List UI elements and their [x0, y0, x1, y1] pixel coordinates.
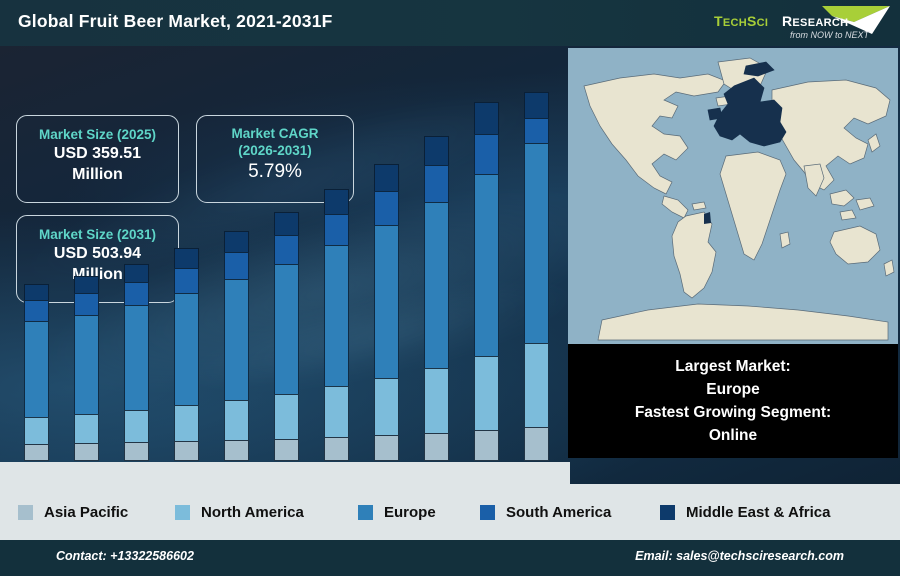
contact-email: Email: sales@techsciresearch.com: [635, 549, 844, 563]
bar-column: [174, 248, 199, 460]
bar-segment: [24, 300, 49, 322]
legend-swatch: [660, 505, 675, 520]
largest-market-value: Europe: [568, 379, 898, 401]
svg-text:TECHSCI: TECHSCI: [714, 13, 768, 29]
bar-column: [374, 164, 399, 460]
bar-segment: [274, 264, 299, 395]
bar-segment: [124, 305, 149, 411]
bar-segment: [324, 245, 349, 387]
fastest-segment-value: Online: [568, 425, 898, 447]
legend-label: Europe: [384, 504, 436, 521]
bar-segment: [474, 102, 499, 135]
legend-swatch: [175, 505, 190, 520]
bar-segment: [274, 394, 299, 440]
bar-segment: [274, 235, 299, 265]
bar-column: [274, 212, 299, 460]
bar-segment: [124, 264, 149, 283]
bar-segment: [324, 386, 349, 438]
bar-segment: [74, 315, 99, 415]
page-title: Global Fruit Beer Market, 2021-2031F: [18, 11, 333, 32]
bar-segment: [424, 136, 449, 166]
legend-swatch: [18, 505, 33, 520]
bar-segment: [474, 174, 499, 357]
bar-segment: [374, 191, 399, 226]
bar-segment: [174, 248, 199, 269]
bar-segment: [174, 441, 199, 461]
bar-column: [424, 136, 449, 460]
chart-legend: Asia PacificNorth AmericaEuropeSouth Ame…: [0, 484, 900, 540]
bar-segment: [124, 410, 149, 443]
bar-column: [124, 264, 149, 460]
bar-segment: [24, 284, 49, 301]
bar-segment: [124, 442, 149, 461]
bar-segment: [524, 343, 549, 428]
bar-segment: [74, 293, 99, 316]
bar-segment: [474, 356, 499, 431]
techsci-research-logo: TECHSCI RESEARCH from NOW to NEXT: [704, 2, 894, 44]
bar-segment: [24, 321, 49, 418]
bar-segment: [374, 164, 399, 192]
bar-column: [324, 189, 349, 460]
bar-segment: [524, 118, 549, 144]
legend-label: South America: [506, 504, 611, 521]
bar-segment: [24, 417, 49, 445]
legend-item: Asia Pacific: [18, 504, 128, 521]
infographic-page: Global Fruit Beer Market, 2021-2031F TEC…: [0, 0, 900, 576]
bar-segment: [174, 268, 199, 294]
bar-segment: [224, 440, 249, 461]
legend-item: South America: [480, 504, 611, 521]
bar-segment: [224, 231, 249, 253]
bar-segment: [424, 202, 449, 369]
bar-segment: [374, 225, 399, 379]
bar-segment: [74, 443, 99, 461]
legend-label: Asia Pacific: [44, 504, 128, 521]
bar-column: [24, 284, 49, 460]
contact-phone: Contact: +13322586602: [56, 549, 194, 563]
bar-segment: [174, 293, 199, 406]
bar-column: [224, 231, 249, 460]
bar-column: [524, 92, 549, 460]
svg-text:from NOW to NEXT: from NOW to NEXT: [790, 30, 871, 40]
stacked-bar-chart: [0, 46, 570, 484]
bar-segment: [474, 430, 499, 461]
bar-segment: [274, 439, 299, 461]
fastest-segment-label: Fastest Growing Segment:: [568, 402, 898, 424]
bar-segment: [524, 143, 549, 344]
bar-segment: [324, 214, 349, 246]
bar-segment: [224, 279, 249, 401]
bar-segment: [424, 165, 449, 203]
legend-item: Middle East & Africa: [660, 504, 830, 521]
bar-segment: [524, 92, 549, 119]
bar-segment: [424, 368, 449, 434]
bar-segment: [24, 444, 49, 461]
legend-item: North America: [175, 504, 304, 521]
bar-segment: [124, 282, 149, 306]
legend-item: Europe: [358, 504, 436, 521]
largest-market-label: Largest Market:: [568, 356, 898, 378]
legend-label: North America: [201, 504, 304, 521]
world-map: [568, 48, 898, 344]
bar-segment: [474, 134, 499, 175]
bar-segment: [224, 400, 249, 441]
axis-baseline-strip: [0, 462, 570, 484]
bar-segment: [374, 435, 399, 461]
bar-segment: [224, 252, 249, 280]
bar-segment: [324, 189, 349, 215]
legend-label: Middle East & Africa: [686, 504, 830, 521]
bar-segment: [74, 276, 99, 294]
bar-segment: [274, 212, 299, 236]
key-insights-box: Largest Market: Europe Fastest Growing S…: [568, 344, 898, 458]
bar-segment: [524, 427, 549, 461]
footer-bar: Contact: +13322586602 Email: sales@techs…: [0, 540, 900, 576]
header-bar: Global Fruit Beer Market, 2021-2031F TEC…: [0, 0, 900, 46]
bar-segment: [74, 414, 99, 444]
bar-segment: [424, 433, 449, 461]
legend-swatch: [358, 505, 373, 520]
bar-column: [474, 102, 499, 460]
bar-segment: [324, 437, 349, 461]
bar-segment: [374, 378, 399, 436]
bar-column: [74, 276, 99, 460]
bar-segment: [174, 405, 199, 442]
legend-swatch: [480, 505, 495, 520]
